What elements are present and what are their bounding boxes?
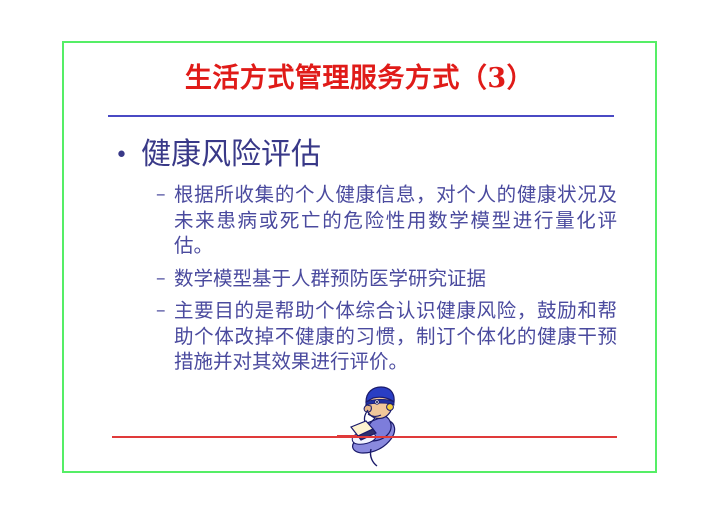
bullet-level2-label: 数学模型基于人群预防医学研究证据	[174, 266, 617, 292]
bullet-dot-icon: •	[115, 136, 141, 176]
dash-bullet-icon: –	[156, 182, 174, 208]
dash-bullet-icon: –	[156, 298, 174, 324]
bullet-level2-item: – 根据所收集的个人健康信息，对个人的健康状况及未来患病或死亡的危险性用数学模型…	[156, 182, 617, 259]
bullet-level2-item: – 数学模型基于人群预防医学研究证据	[156, 266, 617, 292]
bullet-level2-label: 根据所收集的个人健康信息，对个人的健康状况及未来患病或死亡的危险性用数学模型进行…	[174, 182, 617, 259]
footer-red-line	[112, 436, 617, 438]
bullet-level1: • 健康风险评估	[62, 136, 657, 176]
slide-canvas: 生活方式管理服务方式（3） • 健康风险评估 – 根据所收集的个人健康信息，对个…	[0, 0, 720, 509]
genie-with-laptop-clipart	[337, 383, 409, 468]
bullet-level2-list: – 根据所收集的个人健康信息，对个人的健康状况及未来患病或死亡的危险性用数学模型…	[62, 182, 657, 375]
bullet-level2-item: – 主要目的是帮助个体综合认识健康风险，鼓励和帮助个体改掉不健康的习惯，制订个体…	[156, 298, 617, 375]
slide-content: • 健康风险评估 – 根据所收集的个人健康信息，对个人的健康状况及未来患病或死亡…	[62, 136, 657, 382]
dash-bullet-icon: –	[156, 266, 174, 292]
title-divider-line	[108, 115, 614, 117]
slide-title: 生活方式管理服务方式（3）	[62, 62, 657, 96]
bullet-level2-label: 主要目的是帮助个体综合认识健康风险，鼓励和帮助个体改掉不健康的习惯，制订个体化的…	[174, 298, 617, 375]
bullet-level1-label: 健康风险评估	[141, 136, 657, 174]
